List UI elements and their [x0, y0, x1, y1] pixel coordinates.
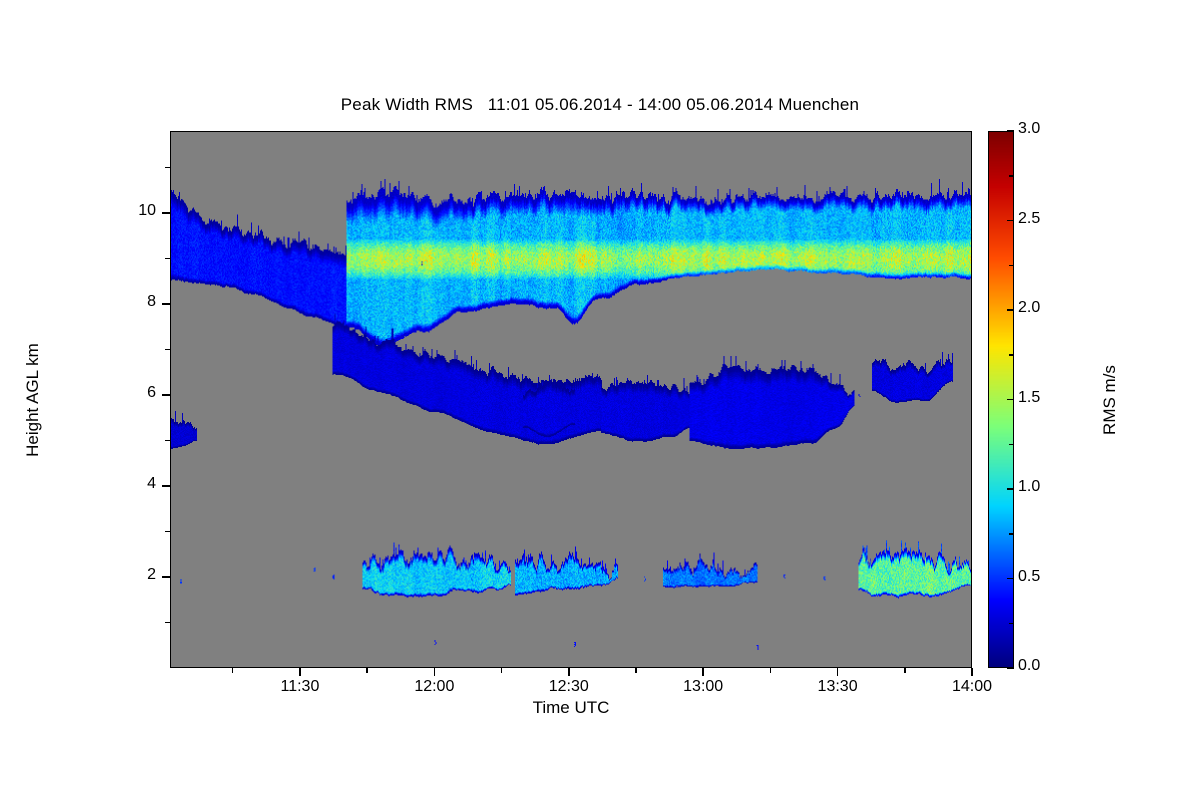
y-axis-minor-tick — [165, 440, 170, 442]
x-axis-tick-label: 11:30 — [240, 678, 360, 696]
colorbar-tick-label: 1.5 — [1018, 389, 1040, 407]
page-title: Peak Width RMS 11:01 05.06.2014 - 14:00 … — [0, 95, 1200, 115]
colorbar-tick — [1007, 399, 1014, 401]
lidar-quicklook-figure: Peak Width RMS 11:01 05.06.2014 - 14:00 … — [0, 0, 1200, 800]
heatmap-plot-area[interactable] — [170, 131, 972, 668]
x-axis-minor-tick — [501, 668, 503, 673]
y-axis-tick — [162, 485, 170, 487]
y-axis-label: Height AGL km — [23, 230, 43, 570]
y-axis-tick-label: 8 — [96, 293, 156, 311]
colorbar-tick — [1007, 220, 1014, 222]
y-axis-tick-label: 6 — [96, 384, 156, 402]
y-axis-tick-label: 4 — [96, 475, 156, 493]
colorbar-label: RMS m/s — [1100, 270, 1120, 530]
y-axis-tick — [162, 394, 170, 396]
colorbar-tick — [1007, 309, 1014, 311]
colorbar-minor-tick — [1009, 354, 1014, 356]
x-axis-tick — [971, 668, 973, 676]
y-axis-tick — [162, 576, 170, 578]
x-axis-minor-tick — [904, 668, 906, 673]
y-axis-tick-label: 10 — [96, 202, 156, 220]
x-axis-tick — [568, 668, 570, 676]
y-axis-tick — [162, 303, 170, 305]
colorbar-tick-label: 0.0 — [1018, 657, 1040, 675]
colorbar-tick — [1007, 667, 1014, 669]
x-axis-minor-tick — [232, 668, 234, 673]
colorbar-tick — [1007, 578, 1014, 580]
x-axis-minor-tick — [635, 668, 637, 673]
colorbar-minor-tick — [1009, 175, 1014, 177]
colorbar-tick-label: 3.0 — [1018, 120, 1040, 138]
heatmap-canvas[interactable] — [171, 132, 971, 667]
y-axis-tick-label: 2 — [96, 566, 156, 584]
colorbar-tick-label: 1.0 — [1018, 478, 1040, 496]
x-axis-label: Time UTC — [170, 698, 972, 718]
x-axis-minor-tick — [770, 668, 772, 673]
x-axis-tick-label: 12:00 — [374, 678, 494, 696]
x-axis-tick — [837, 668, 839, 676]
x-axis-tick-label: 13:00 — [643, 678, 763, 696]
y-axis-minor-tick — [165, 258, 170, 260]
x-axis-tick — [299, 668, 301, 676]
y-axis-minor-tick — [165, 622, 170, 624]
colorbar-tick-label: 0.5 — [1018, 568, 1040, 586]
colorbar-tick — [1007, 130, 1014, 132]
colorbar-minor-tick — [1009, 533, 1014, 535]
x-axis-tick — [434, 668, 436, 676]
colorbar-tick-label: 2.5 — [1018, 210, 1040, 228]
x-axis-minor-tick — [366, 668, 368, 673]
y-axis-minor-tick — [165, 167, 170, 169]
x-axis-tick-label: 13:30 — [778, 678, 898, 696]
colorbar-minor-tick — [1009, 444, 1014, 446]
y-axis-tick — [162, 212, 170, 214]
colorbar-tick-label: 2.0 — [1018, 299, 1040, 317]
y-axis-minor-tick — [165, 531, 170, 533]
x-axis-tick — [702, 668, 704, 676]
x-axis-tick-label: 14:00 — [912, 678, 1032, 696]
colorbar-minor-tick — [1009, 623, 1014, 625]
x-axis-tick-label: 12:30 — [509, 678, 629, 696]
y-axis-minor-tick — [165, 349, 170, 351]
colorbar-tick — [1007, 488, 1014, 490]
colorbar-minor-tick — [1009, 265, 1014, 267]
